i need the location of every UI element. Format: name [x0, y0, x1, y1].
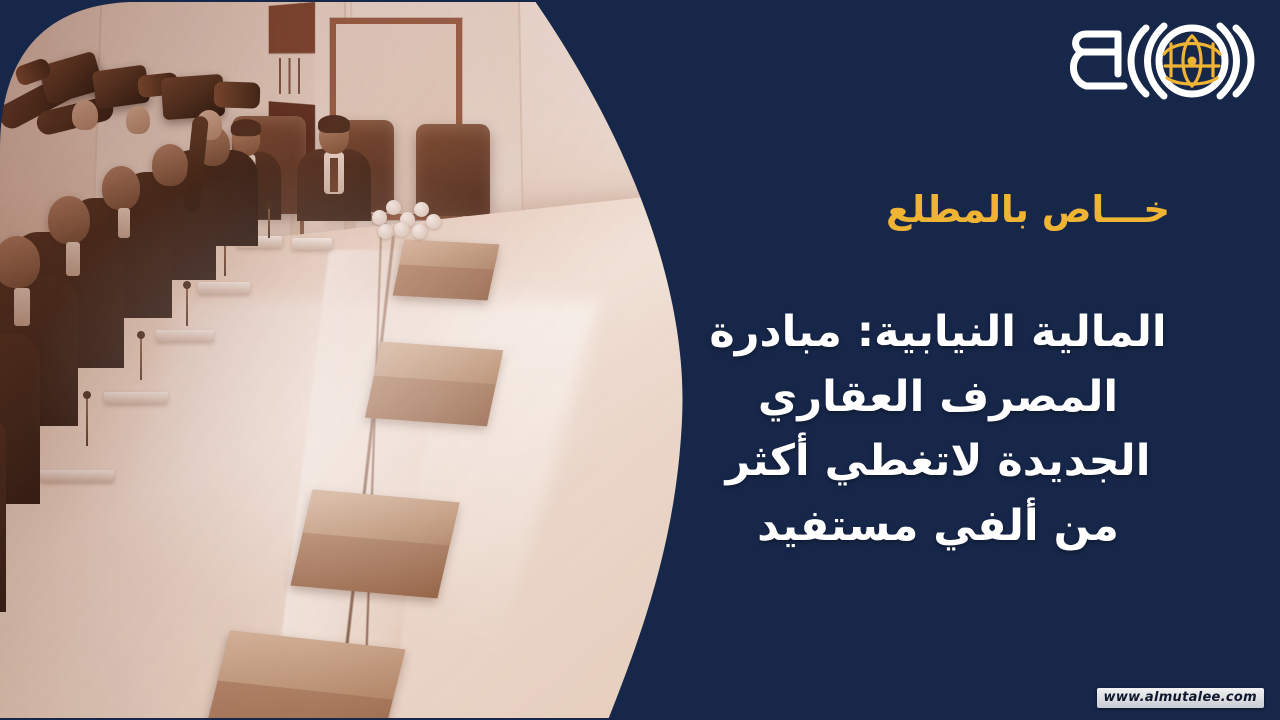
microphone: [186, 286, 188, 326]
headline-line: الجديدة لاتغطي أكثر: [688, 429, 1188, 494]
photographer-arm: [34, 95, 115, 137]
table-seam: [363, 236, 382, 720]
camera-lens-icon: [214, 81, 261, 109]
headline-line: المصرف العقاري: [688, 365, 1188, 430]
person-tie: [330, 158, 338, 192]
person-body: [297, 149, 371, 221]
photographer-arm: [0, 69, 83, 132]
person-tie: [242, 160, 250, 192]
table-seam: [337, 236, 395, 717]
hand: [72, 100, 98, 130]
table-box: [365, 342, 503, 427]
hand: [196, 110, 222, 140]
microphone: [224, 240, 226, 276]
kicker-label: خـــاص بالمطلع: [886, 188, 1170, 232]
table-box: [203, 631, 406, 720]
person-body: [211, 151, 281, 219]
chair: [416, 124, 490, 216]
nameplate: [104, 392, 168, 404]
hand: [126, 106, 150, 134]
person-hair: [318, 115, 350, 133]
door-frame: [330, 18, 462, 220]
microphone: [268, 206, 270, 238]
camera-icon: [92, 64, 151, 109]
headline-line: من ألفي مستفيد: [688, 494, 1188, 559]
person-head: [232, 122, 261, 156]
watermark-url: www.almutalee.com: [1097, 688, 1264, 708]
photo-panel: [0, 0, 700, 720]
camera-lens-icon: [14, 57, 53, 87]
wall-panel: [350, 0, 524, 235]
nameplate: [236, 236, 282, 248]
photo-haze: [0, 0, 700, 720]
microphone: [86, 396, 88, 446]
nameplate: [292, 238, 332, 250]
flower-arrangement: [368, 196, 452, 242]
wall-panel: [300, 0, 346, 240]
table-box: [393, 239, 500, 300]
iraqi-flag-icon: [269, 2, 315, 158]
meeting-photo: [0, 0, 700, 720]
person-shirt: [324, 152, 344, 194]
nameplate: [40, 470, 114, 482]
headline: المالية النيابية: مبادرة المصرف العقاري …: [688, 300, 1188, 558]
camera-icon: [38, 51, 105, 105]
almutalee-logo[interactable]: [1068, 14, 1258, 110]
photo-duotone: [0, 0, 700, 720]
flag-pole: [300, 6, 304, 236]
person-head: [319, 118, 349, 154]
camera-lens-icon: [137, 72, 179, 98]
nameplate: [156, 330, 214, 342]
chair: [232, 116, 306, 214]
microphone: [140, 336, 142, 380]
news-card: خـــاص بالمطلع المالية النيابية: مبادرة …: [0, 0, 1280, 720]
camera-icon: [161, 74, 226, 120]
table-reflection: [60, 300, 600, 720]
table-box: [290, 489, 459, 598]
wall-panel: [91, 0, 300, 250]
table-highlight: [271, 250, 449, 720]
person-shirt: [237, 154, 256, 194]
nameplate: [198, 282, 250, 294]
attendees-row: [0, 120, 290, 640]
headline-line: المالية النيابية: مبادرة: [688, 300, 1188, 365]
monopod: [183, 115, 209, 212]
chair: [322, 120, 394, 212]
conference-table: [0, 174, 700, 720]
person-hair: [231, 119, 261, 136]
photo-blob-mask: [0, 0, 700, 720]
flag-script: [276, 58, 306, 94]
